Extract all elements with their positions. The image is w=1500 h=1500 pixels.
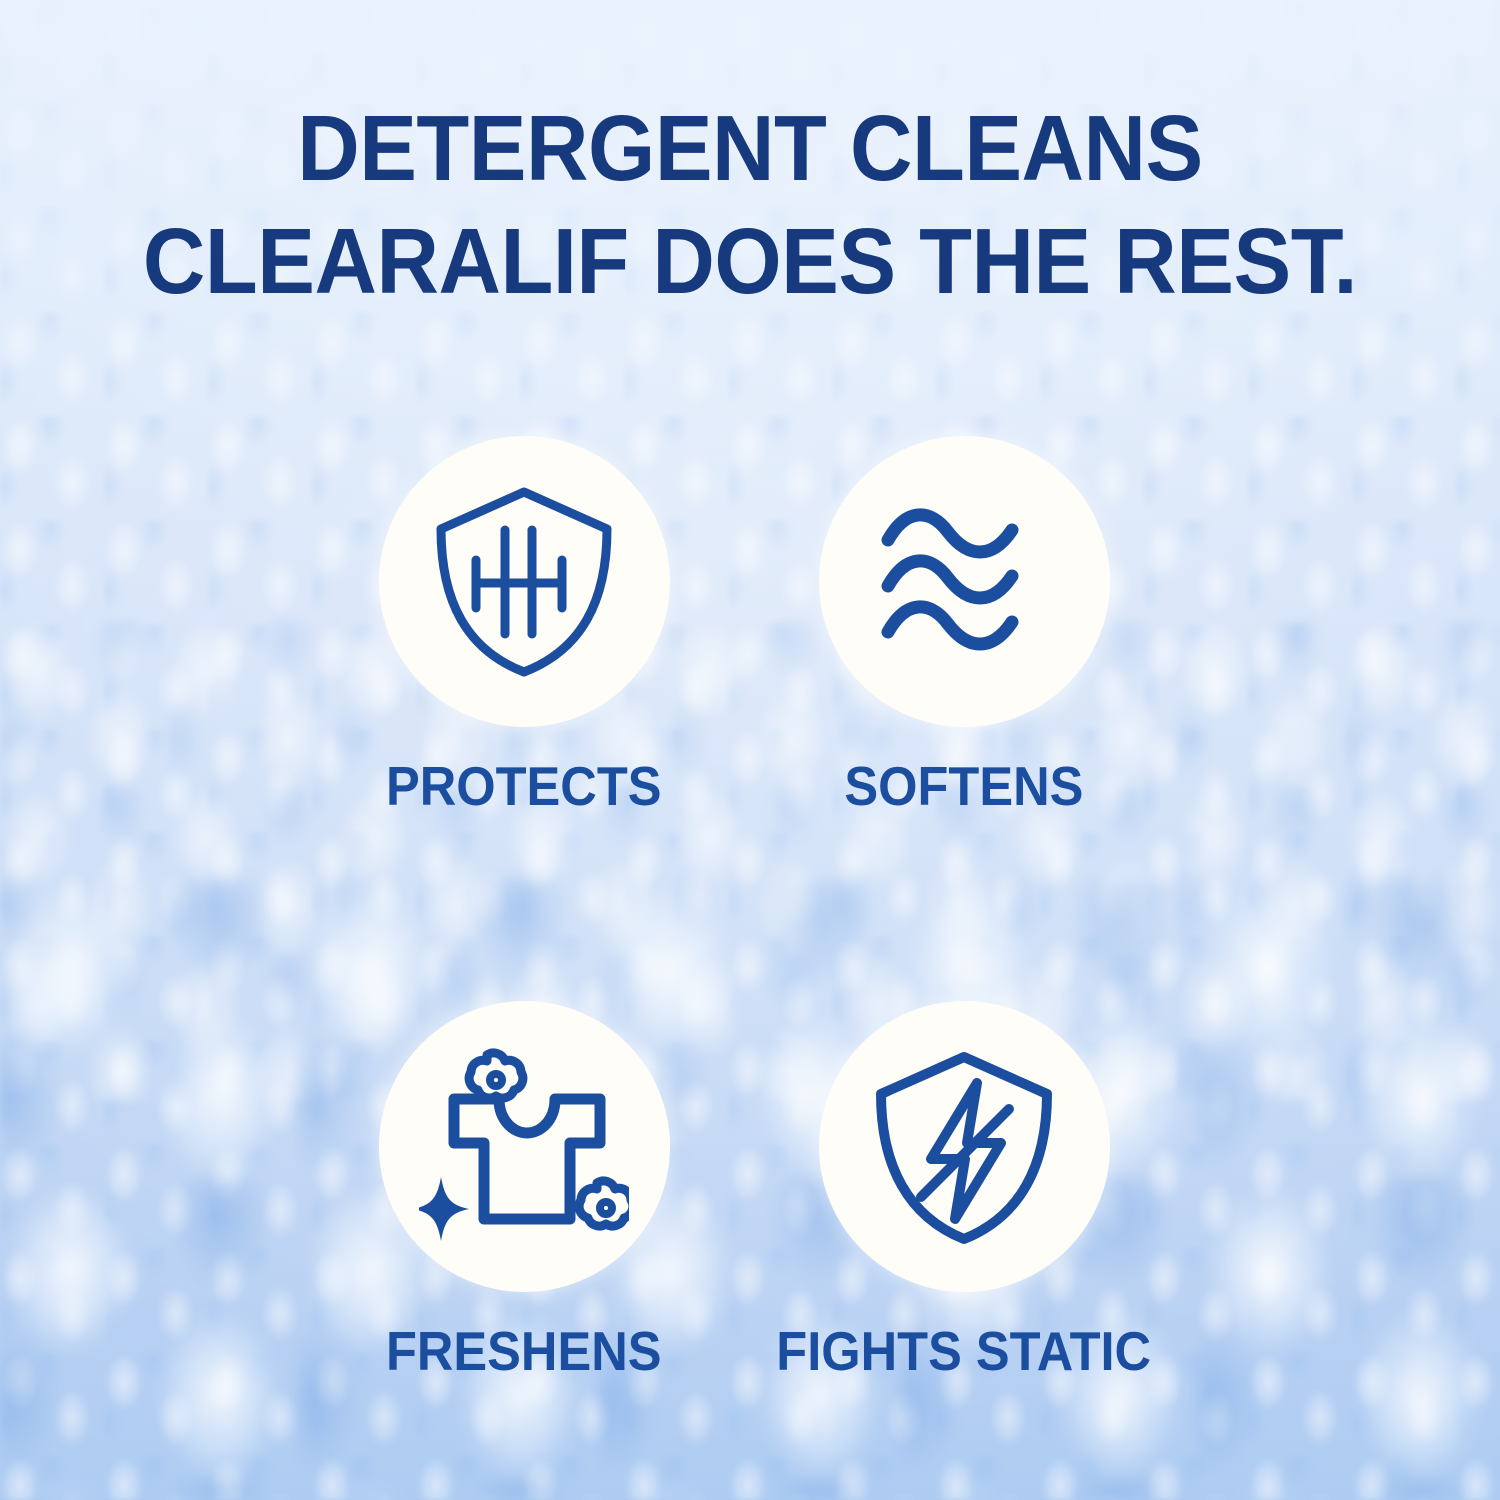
soft-waves-icon	[876, 502, 1052, 662]
feature-row-top: PROTECTS SOFTENS	[0, 436, 1500, 815]
feature-protects[interactable]: PROTECTS	[294, 436, 754, 815]
shield-lightning-bolt-icon	[869, 1047, 1059, 1247]
tshirt-flowers-sparkle-icon	[419, 1047, 629, 1247]
feature-icon-bubble	[379, 436, 670, 727]
feature-row-bottom: FRESHENS FIGHTS STATIC	[0, 1001, 1500, 1380]
feature-freshens[interactable]: FRESHENS	[294, 1001, 754, 1380]
feature-label: PROTECTS	[386, 757, 662, 815]
infographic-canvas: DETERGENT CLEANS CLEARALIF DOES THE REST…	[0, 0, 1500, 1500]
feature-icon-bubble	[379, 1001, 670, 1292]
feature-grid: PROTECTS SOFTENS	[0, 436, 1500, 1380]
sparkle-icon	[419, 1177, 469, 1241]
flower-icon	[579, 1180, 629, 1225]
shield-fabric-weave-icon	[431, 482, 617, 682]
feature-label: FRESHENS	[386, 1322, 662, 1380]
feature-icon-bubble	[819, 1001, 1110, 1292]
page-title: DETERGENT CLEANS CLEARALIF DOES THE REST…	[53, 92, 1448, 318]
feature-softens[interactable]: SOFTENS	[734, 436, 1194, 815]
flower-icon	[469, 1052, 523, 1097]
feature-label: FIGHTS STATIC	[777, 1322, 1152, 1380]
feature-fights-static[interactable]: FIGHTS STATIC	[734, 1001, 1194, 1380]
feature-icon-bubble	[819, 436, 1110, 727]
feature-label: SOFTENS	[845, 757, 1084, 815]
